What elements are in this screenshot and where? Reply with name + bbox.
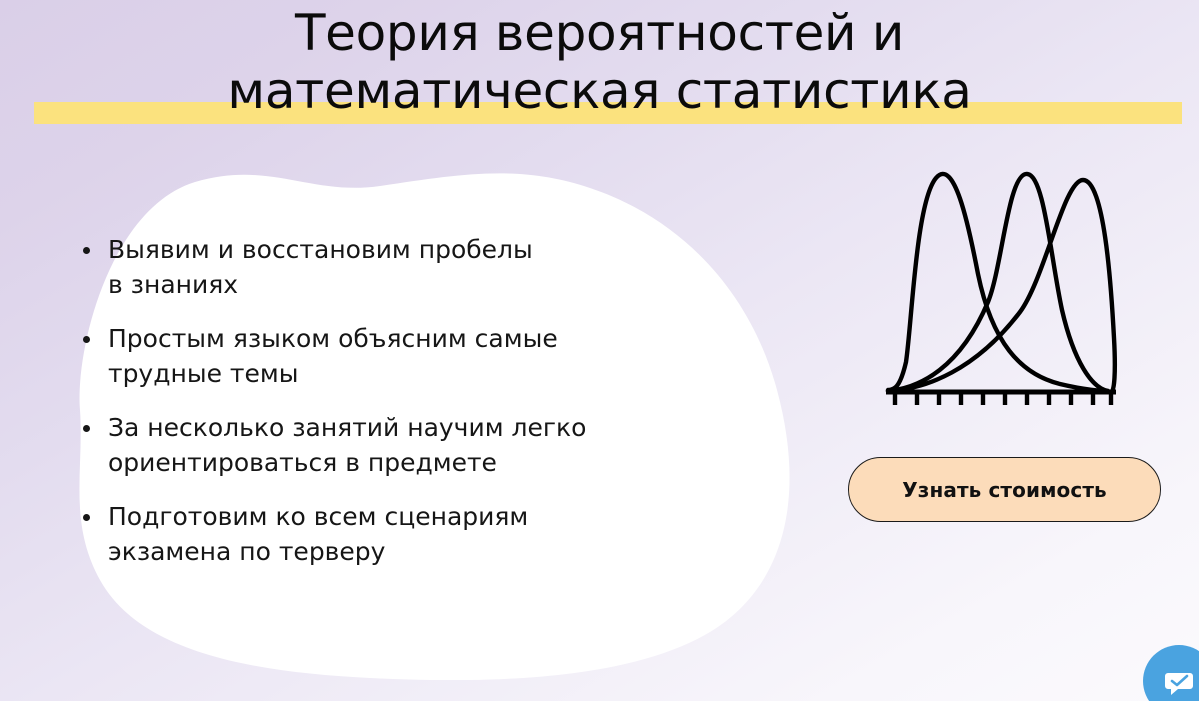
- list-item: За несколько занятий научим легко ориент…: [78, 410, 718, 480]
- heading-block: Теория вероятностей и математическая ста…: [0, 4, 1199, 120]
- list-item: Простым языком объясним самые трудные те…: [78, 321, 718, 391]
- list-item: Подготовим ко всем сценариям экзамена по…: [78, 499, 718, 569]
- learn-price-button[interactable]: Узнать стоимость: [848, 457, 1161, 522]
- learn-price-button-label: Узнать стоимость: [902, 478, 1107, 502]
- slide-root: Теория вероятностей и математическая ста…: [0, 0, 1199, 701]
- page-title: Теория вероятностей и математическая ста…: [0, 4, 1199, 120]
- chat-widget-button[interactable]: [1143, 645, 1199, 701]
- list-item: Выявим и восстановим пробелы в знаниях: [78, 232, 718, 302]
- chat-bubble-icon: [1162, 664, 1196, 698]
- bell-curves-illustration: [880, 162, 1130, 407]
- benefits-list: Выявим и восстановим пробелы в знаниях П…: [78, 232, 718, 569]
